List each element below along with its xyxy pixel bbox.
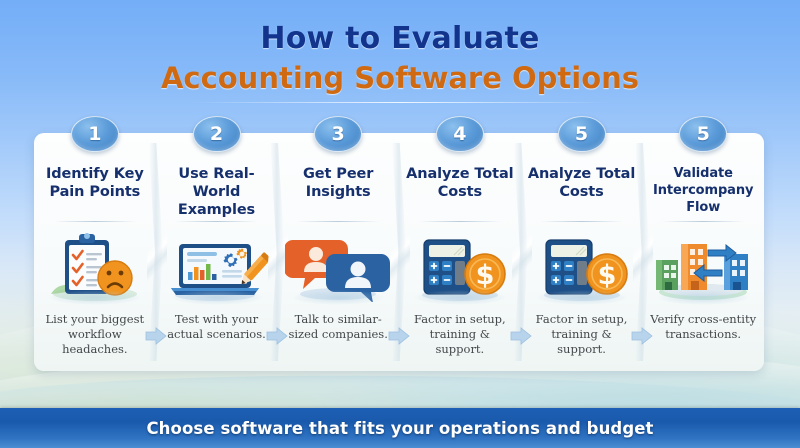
step-connector-arrow-icon xyxy=(388,327,410,345)
step-caption: Verify cross-entity transactions. xyxy=(646,312,760,342)
step-icon-area xyxy=(281,224,395,302)
step-card-3[interactable]: 3 Get Peer Insights Talk to similar-size… xyxy=(277,133,399,371)
title-divider xyxy=(662,221,744,222)
step-connector-arrow-icon xyxy=(145,327,167,345)
step-title: Get Peer Insights xyxy=(281,165,395,219)
step-icon-area: $ xyxy=(525,224,639,302)
step-icon-area xyxy=(646,224,760,302)
step-connector-arrow-icon xyxy=(510,327,532,345)
icon-shadow xyxy=(536,290,628,305)
step-title: Analyze Total Costs xyxy=(403,165,517,219)
step-card-5[interactable]: 5 Analyze Total Costs xyxy=(521,133,643,371)
icon-shadow xyxy=(171,290,263,305)
title-underline xyxy=(190,102,610,103)
title-divider xyxy=(54,221,136,222)
step-caption: List your biggest workflow headaches. xyxy=(38,312,152,357)
step-number-badge: 2 xyxy=(193,116,241,152)
step-card-4[interactable]: 4 Analyze Total Costs xyxy=(399,133,521,371)
step-title: Validate Intercompany Flow xyxy=(646,165,760,219)
step-card-2[interactable]: 2 Use Real-World Examples xyxy=(156,133,278,371)
step-connector-arrow-icon xyxy=(266,327,288,345)
icon-shadow xyxy=(414,290,506,305)
title-line-1: How to Evaluate xyxy=(0,22,800,56)
bottom-banner: Choose software that fits your operation… xyxy=(0,408,800,448)
step-card-1[interactable]: 1 Identify Key Pain Points xyxy=(34,133,156,371)
icon-shadow xyxy=(292,290,384,305)
step-card-6[interactable]: 5 Validate Intercompany Flow xyxy=(642,133,764,371)
step-connector-arrow-icon xyxy=(631,327,653,345)
icon-shadow xyxy=(49,290,141,305)
step-caption: Factor in setup, training & support. xyxy=(403,312,517,357)
step-title: Analyze Total Costs xyxy=(525,165,639,219)
steps-panel: 1 Identify Key Pain Points xyxy=(34,133,764,371)
title-divider xyxy=(419,221,501,222)
step-number-badge: 3 xyxy=(314,116,362,152)
title-divider xyxy=(176,221,258,222)
step-icon-area xyxy=(160,224,274,302)
svg-text:$: $ xyxy=(597,260,616,291)
banner-text: Choose software that fits your operation… xyxy=(146,419,653,438)
infographic-canvas: How to Evaluate Accounting Software Opti… xyxy=(0,0,800,448)
step-title: Identify Key Pain Points xyxy=(38,165,152,219)
step-icon-area: $ xyxy=(403,224,517,302)
step-number-badge: 1 xyxy=(71,116,119,152)
step-caption: Test with your actual scenarios. xyxy=(160,312,274,342)
step-number-badge: 5 xyxy=(558,116,606,152)
step-icon-area xyxy=(38,224,152,302)
step-number-badge: 4 xyxy=(436,116,484,152)
title-line-2: Accounting Software Options xyxy=(0,60,800,96)
svg-text:$: $ xyxy=(475,260,494,291)
step-number-badge: 5 xyxy=(679,116,727,152)
step-title: Use Real-World Examples xyxy=(160,165,274,219)
title-block: How to Evaluate Accounting Software Opti… xyxy=(0,22,800,103)
step-caption: Factor in setup, training & support. xyxy=(525,312,639,357)
icon-shadow xyxy=(657,290,749,305)
step-caption: Talk to similar-sized companies. xyxy=(281,312,395,342)
title-divider xyxy=(541,221,623,222)
title-divider xyxy=(297,221,379,222)
